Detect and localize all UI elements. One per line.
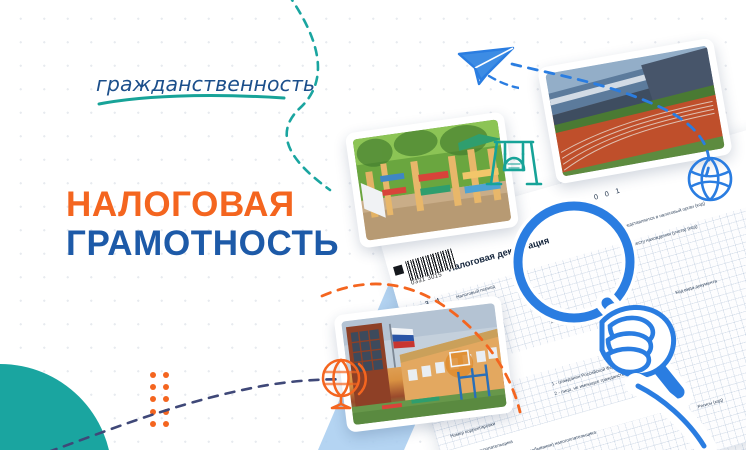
globe-icon: [316, 356, 370, 417]
hand-icon: [596, 300, 726, 450]
swing-icon: [483, 130, 545, 197]
kicker-underline-swoosh: [99, 96, 284, 104]
poster-canvas: Статус налогоплательщика Адрес места жит…: [0, 0, 746, 450]
basketball-icon: [683, 152, 737, 211]
paper-plane-icon: [455, 44, 519, 95]
